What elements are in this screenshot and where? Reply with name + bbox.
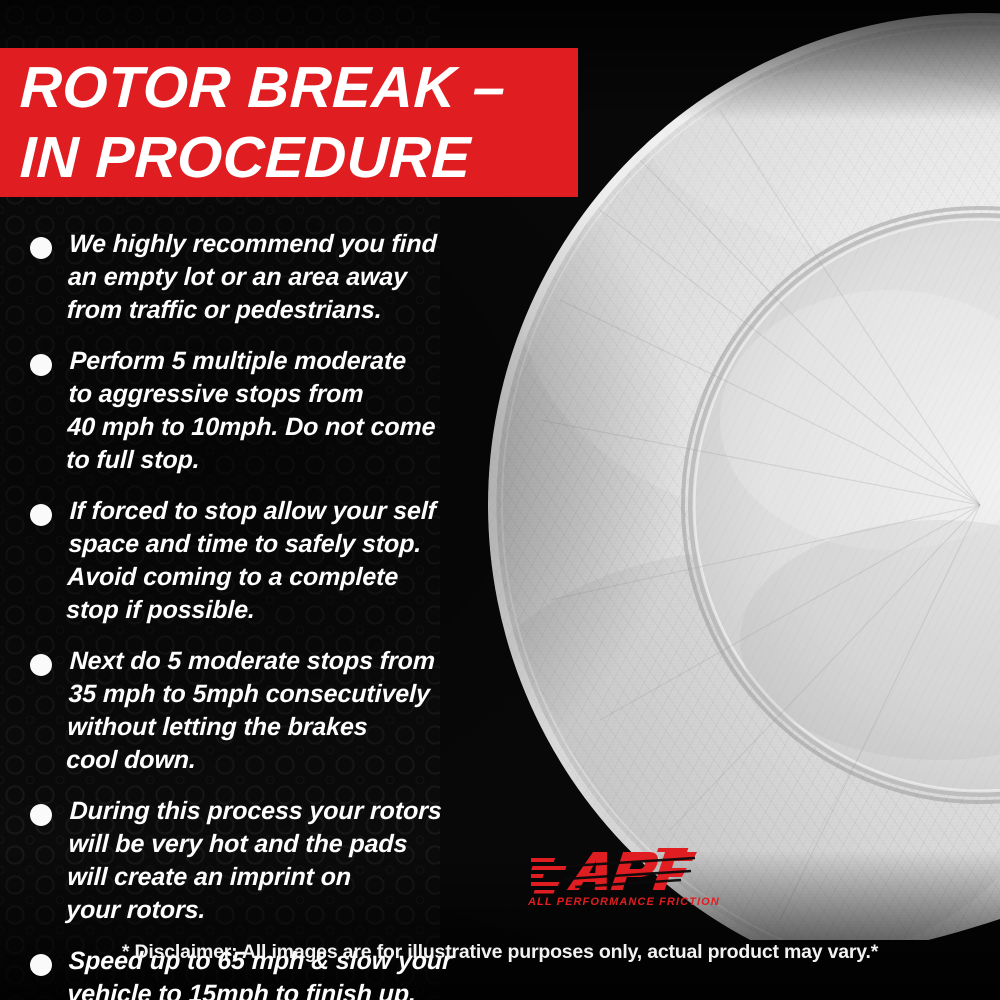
title-banner: ROTOR BREAK – IN PROCEDURE	[0, 48, 578, 197]
list-item: Perform 5 multiple moderate to aggressiv…	[30, 345, 530, 477]
list-item-text: Perform 5 multiple moderate to aggressiv…	[66, 345, 439, 477]
list-item: During this process your rotors will be …	[30, 795, 530, 927]
list-item-text: Next do 5 moderate stops from 35 mph to …	[66, 645, 436, 777]
title-line-2: IN PROCEDURE	[19, 123, 579, 193]
list-item-text: We highly recommend you find an empty lo…	[66, 228, 437, 327]
list-item: If forced to stop allow your self space …	[30, 495, 530, 627]
bullet-dot-icon	[30, 804, 52, 826]
bullet-dot-icon	[30, 354, 52, 376]
instruction-list: We highly recommend you find an empty lo…	[30, 228, 530, 1000]
apf-logo: ALL PERFORMANCE FRICTION	[528, 846, 703, 920]
list-item-text: During this process your rotors will be …	[66, 795, 443, 927]
apf-wordmark-icon	[528, 846, 703, 898]
bullet-dot-icon	[30, 504, 52, 526]
list-item-text: If forced to stop allow your self space …	[66, 495, 437, 627]
poster-root: ROTOR BREAK – IN PROCEDURE We highly rec…	[0, 0, 1000, 1000]
title-line-1: ROTOR BREAK –	[19, 53, 579, 123]
bullet-dot-icon	[30, 237, 52, 259]
disclaimer-text: * Disclaimer: All images are for illustr…	[0, 941, 1000, 964]
bullet-dot-icon	[30, 654, 52, 676]
list-item: Next do 5 moderate stops from 35 mph to …	[30, 645, 530, 777]
list-item: We highly recommend you find an empty lo…	[30, 228, 530, 327]
